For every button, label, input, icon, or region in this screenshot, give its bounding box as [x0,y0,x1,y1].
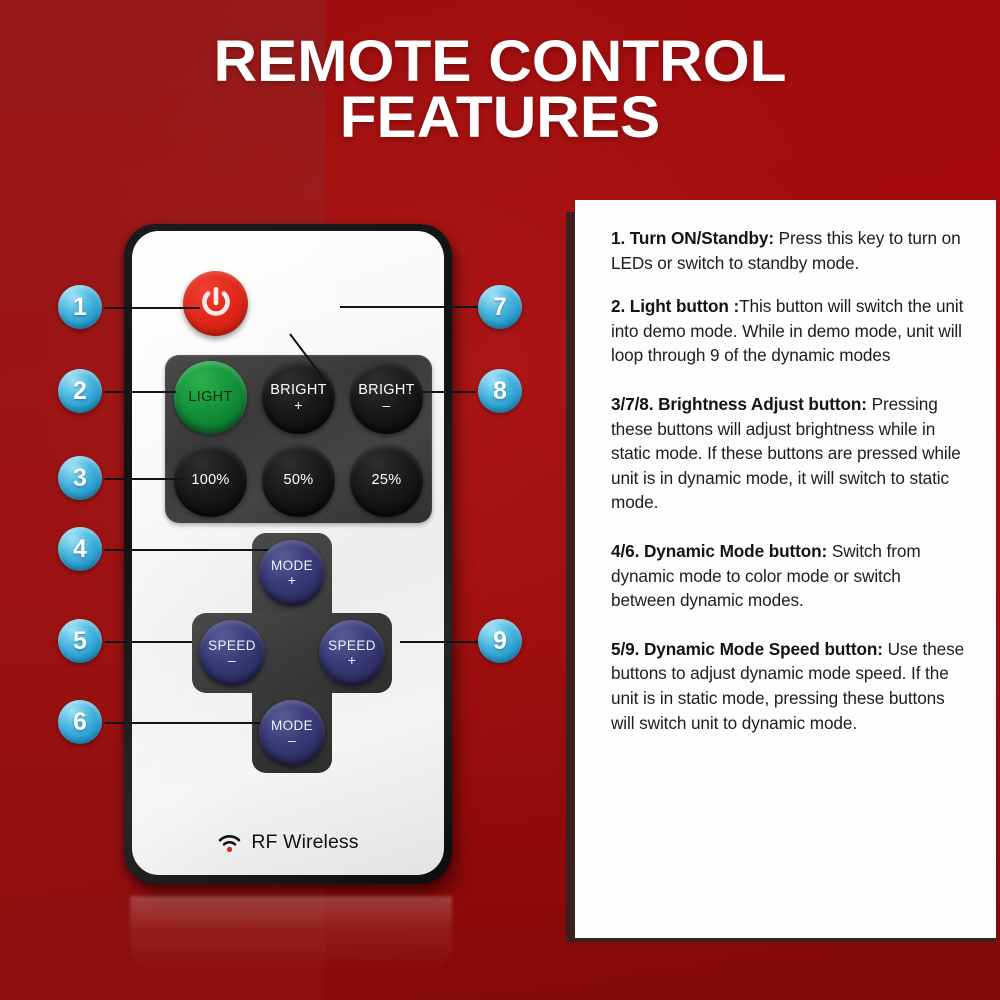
feature-heading-1: 1. Turn ON/Standby: [611,228,774,248]
feature-item-3: 3/7/8. Brightness Adjust button: Pressin… [611,392,968,515]
speed-minus-label: SPEED [208,639,256,653]
mode-plus-button[interactable]: MODE + [259,540,325,606]
speed-plus-sign: + [348,653,357,667]
bright-down-label: BRIGHT [358,383,415,398]
callout-badge-8[interactable]: 8 [478,369,522,413]
callout-badge-6[interactable]: 6 [58,700,102,744]
remote-face: LIGHT BRIGHT + BRIGHT – 100% 50% 25% [132,231,444,875]
page-title: REMOTE CONTROL FEATURES [0,34,1000,145]
feature-item-5: 5/9. Dynamic Mode Speed button: Use thes… [611,637,968,735]
feature-heading-3: 3/7/8. Brightness Adjust button: [611,394,867,414]
page-title-line-1: REMOTE CONTROL [0,34,1000,90]
callout-badge-9[interactable]: 9 [478,619,522,663]
wifi-icon [217,833,242,853]
bright-up-label: BRIGHT [270,383,327,398]
feature-item-4: 4/6. Dynamic Mode button: Switch from dy… [611,539,968,613]
callout-badge-3[interactable]: 3 [58,456,102,500]
bright-up-sign: + [294,398,302,412]
speed-plus-button[interactable]: SPEED + [319,620,385,686]
percent-50-button[interactable]: 50% [262,444,335,517]
page-title-line-2: FEATURES [0,90,1000,146]
feature-heading-5: 5/9. Dynamic Mode Speed button: [611,639,883,659]
rf-wireless-label: RF Wireless [251,831,358,854]
feature-heading-2: 2. Light button : [611,296,739,316]
percent-50-label: 50% [284,473,314,488]
remote-reflection [130,896,452,978]
callout-badge-4[interactable]: 4 [58,527,102,571]
bright-down-button[interactable]: BRIGHT – [350,361,423,434]
feature-item-2: 2. Light button :This button will switch… [611,294,968,368]
callout-badge-1[interactable]: 1 [58,285,102,329]
light-button-label: LIGHT [188,390,232,405]
callout-badge-7[interactable]: 7 [478,285,522,329]
percent-100-button[interactable]: 100% [174,444,247,517]
bright-down-sign: – [382,398,390,412]
feature-heading-4: 4/6. Dynamic Mode button: [611,541,827,561]
percent-100-label: 100% [191,473,229,488]
percent-25-label: 25% [372,473,402,488]
mode-minus-label: MODE [271,719,313,733]
keypad-panel: LIGHT BRIGHT + BRIGHT – 100% 50% 25% [165,355,432,523]
light-button[interactable]: LIGHT [174,361,247,434]
mode-minus-sign: – [288,733,296,747]
remote-control: LIGHT BRIGHT + BRIGHT – 100% 50% 25% [124,224,460,894]
speed-minus-button[interactable]: SPEED – [199,620,265,686]
info-panel: 1. Turn ON/Standby: Press this key to tu… [575,200,996,938]
speed-plus-label: SPEED [328,639,376,653]
remote-body: LIGHT BRIGHT + BRIGHT – 100% 50% 25% [124,224,452,884]
callout-badge-5[interactable]: 5 [58,619,102,663]
percent-25-button[interactable]: 25% [350,444,423,517]
speed-minus-sign: – [228,653,236,667]
mode-plus-sign: + [288,573,297,587]
mode-plus-label: MODE [271,559,313,573]
callout-badge-2[interactable]: 2 [58,369,102,413]
feature-item-1: 1. Turn ON/Standby: Press this key to tu… [611,226,968,275]
dpad-panel: MODE + SPEED – SPEED + MODE – [192,533,392,773]
bright-up-button[interactable]: BRIGHT + [262,361,335,434]
rf-wireless-footer: RF Wireless [132,831,444,854]
power-button[interactable] [183,271,248,336]
power-icon [197,285,235,323]
mode-minus-button[interactable]: MODE – [259,700,325,766]
